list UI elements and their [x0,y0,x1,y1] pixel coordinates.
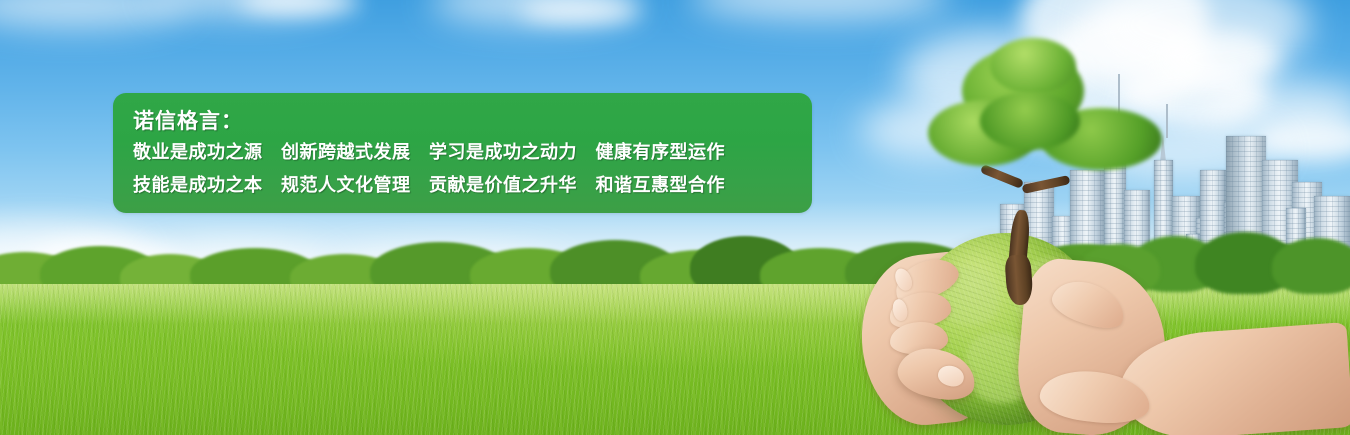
motto-panel: 诺信格言： 敬业是成功之源 创新跨越式发展 学习是成功之动力 健康有序型运作 技… [113,93,812,213]
motto-line-2: 技能是成功之本 规范人文化管理 贡献是价值之升华 和谐互惠型合作 [133,169,812,202]
motto-line-1: 敬业是成功之源 创新跨越式发展 学习是成功之动力 健康有序型运作 [133,136,812,169]
motto-title: 诺信格言： [133,106,812,136]
banner-image: 诺信格言： 敬业是成功之源 创新跨越式发展 学习是成功之动力 健康有序型运作 技… [0,0,1350,435]
tree-canopy-center [980,92,1080,150]
tree-canopy-top [990,38,1076,94]
